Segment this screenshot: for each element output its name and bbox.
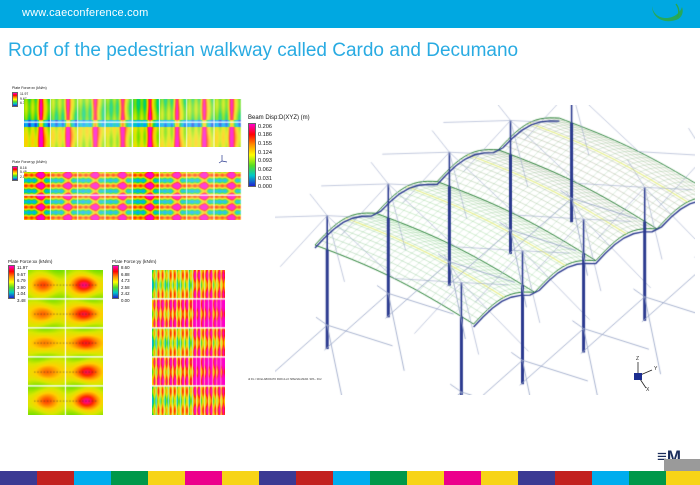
footer-color-block — [259, 471, 296, 485]
axis-triad-icon: Z Y X — [618, 352, 664, 392]
legend-title: Plate Force:yy (kN/m) — [112, 259, 156, 264]
footer-color-block — [222, 471, 259, 485]
footer-color-block — [555, 471, 592, 485]
legend-value: 6.88 — [121, 272, 130, 279]
footer-color-block — [444, 471, 481, 485]
legend: 8.60 6.88 4.73 2.58 2.42 0.00 — [112, 265, 156, 305]
svg-text:Y: Y — [654, 366, 658, 372]
legend-value: 3.90 — [17, 285, 28, 292]
footer-color-block — [407, 471, 444, 485]
legend-value: 0.000 — [258, 183, 272, 192]
legend-value: 0.031 — [258, 175, 272, 184]
legend-value: 0.155 — [258, 140, 272, 149]
footer-color-block — [370, 471, 407, 485]
footer-color-block — [518, 471, 555, 485]
legend-values: 8.60 6.88 4.73 2.58 2.42 0.00 — [121, 265, 130, 305]
contour-plot-plate-force-yy-bottom — [152, 270, 225, 415]
svg-text:Z: Z — [636, 356, 639, 362]
footer-color-strip — [0, 471, 700, 485]
footer-color-block — [148, 471, 185, 485]
legend-color-bar — [12, 92, 18, 107]
footer-color-block — [111, 471, 148, 485]
legend-value: 3.48 — [17, 298, 28, 305]
legend-value: 8.60 — [121, 265, 130, 272]
contour-plot-plate-force-yy-top — [24, 172, 242, 220]
footer-color-block — [296, 471, 333, 485]
legend-value: 0.093 — [258, 157, 272, 166]
contour-plot-plate-force-xx-bottom — [28, 270, 103, 415]
legend-value: 0.00 — [121, 298, 130, 305]
footer-color-block — [629, 471, 666, 485]
legend-color-bar — [12, 166, 18, 181]
legend-value: 4.73 — [121, 278, 130, 285]
legend-value: 6.79 — [17, 278, 28, 285]
legend-title: Plate Force:xx (kN/m) — [12, 87, 47, 91]
footer-color-block — [37, 471, 74, 485]
axis-triad-small-icon — [218, 152, 230, 164]
legend-value: 2.58 — [121, 285, 130, 292]
footer-color-block — [333, 471, 370, 485]
model-caption: di FG / 3D ELABORATO PARI-ILLO SPEZIALIZ… — [248, 378, 322, 381]
legend-title: Plate Force:yy (kN/m) — [12, 161, 47, 165]
footer-color-block — [666, 471, 700, 485]
site-url-label: www.caeconference.com — [22, 7, 148, 19]
legend-value: 9.67 — [17, 272, 28, 279]
legend-value: 0.186 — [258, 131, 272, 140]
contour-panel-plate-force-yy-bottom: Plate Force:yy (kN/m) 8.60 6.88 4.73 2.5… — [112, 259, 156, 305]
logo-backing-bar — [664, 459, 700, 471]
footer-color-block — [185, 471, 222, 485]
legend-value: 11.97 — [17, 265, 28, 272]
contour-plot-plate-force-xx-top — [24, 99, 242, 147]
legend-values: 11.97 9.67 6.79 3.90 1.04 3.48 — [17, 265, 28, 305]
page-title: Roof of the pedestrian walkway called Ca… — [8, 40, 518, 62]
footer-color-block — [481, 471, 518, 485]
legend-value: 0.062 — [258, 166, 272, 175]
legend-color-bar — [8, 265, 15, 299]
legend-value: 11.97 — [20, 92, 28, 97]
legend-values: 0.206 0.186 0.155 0.124 0.093 0.062 0.03… — [258, 123, 272, 192]
footer-color-block — [592, 471, 629, 485]
legend-value: 0.206 — [258, 123, 272, 132]
svg-text:X: X — [646, 387, 650, 392]
legend-color-bar — [112, 265, 119, 299]
legend-value: 2.42 — [121, 291, 130, 298]
legend-value: 1.04 — [17, 291, 28, 298]
footer-color-block — [74, 471, 111, 485]
legend-color-bar — [248, 123, 256, 187]
legend-title: Plate Force:xx (kN/m) — [8, 259, 52, 264]
legend-value: 0.124 — [258, 149, 272, 158]
green-swoosh-logo-icon — [646, 2, 686, 26]
footer-color-block — [0, 471, 37, 485]
